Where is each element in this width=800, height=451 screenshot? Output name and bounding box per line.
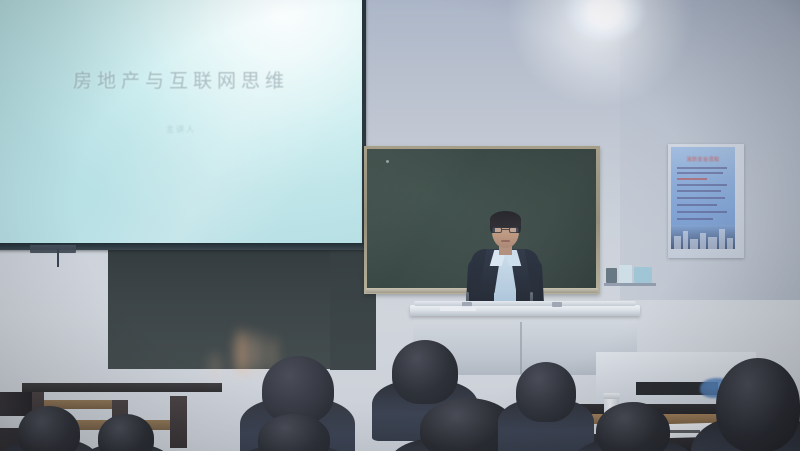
slide-subtitle: 主讲人	[0, 124, 362, 135]
glasses-lens-left	[492, 227, 502, 233]
poster-text-line	[677, 167, 727, 169]
audience-head-1	[18, 406, 80, 451]
poster-text-line	[677, 211, 727, 213]
shelf-item	[606, 268, 617, 283]
audience-head-7	[516, 362, 576, 422]
poster-text-line	[677, 190, 721, 192]
poster-text-line	[677, 218, 713, 220]
left-desk-rail	[22, 383, 222, 392]
screen-sheen	[0, 0, 362, 246]
lectern-seam	[520, 322, 522, 374]
glasses-bridge	[502, 229, 509, 230]
poster-text-line	[677, 204, 717, 206]
poster-text-line	[677, 184, 727, 186]
poster-cityscape-image	[671, 225, 735, 249]
poster-title: 消防安全须知	[671, 156, 735, 163]
poster-building	[690, 239, 698, 249]
glasses-lens-right	[509, 227, 519, 233]
lectern-clip-right	[552, 302, 562, 307]
presenter-mouth	[501, 240, 510, 242]
thermos-cap	[603, 393, 620, 399]
wall-poster-frame: 消防安全须知	[668, 144, 744, 258]
wall-shelf	[604, 262, 656, 286]
wall-poster: 消防安全须知	[671, 147, 735, 249]
glasses-icon	[492, 227, 519, 233]
rear-blackboard-panel	[108, 249, 368, 369]
projection-screen: 房地产与互联网思维 主讲人	[0, 0, 362, 246]
presenter-hair	[490, 211, 521, 228]
poster-building	[700, 233, 706, 249]
audience-head-5	[392, 340, 458, 404]
poster-building	[719, 229, 725, 249]
poster-text-line	[677, 197, 725, 199]
shelf-bracket	[604, 283, 656, 286]
lecture-hall-photo: 房地产与互联网思维 主讲人 消防安全须知	[0, 0, 800, 451]
lectern-notes	[440, 306, 476, 311]
screen-pull-handle[interactable]	[30, 245, 76, 253]
desk-panel	[170, 396, 187, 448]
screen-pull-cord[interactable]	[57, 249, 59, 267]
shelf-item	[634, 267, 652, 283]
poster-text-line	[677, 178, 707, 180]
poster-building	[708, 237, 717, 249]
poster-building	[674, 236, 681, 249]
slide-title: 房地产与互联网思维	[0, 66, 362, 93]
audience-head-8	[596, 402, 670, 451]
poster-building	[727, 238, 733, 249]
shelf-item	[619, 265, 632, 283]
poster-text-line	[677, 172, 723, 174]
audience-head-9	[716, 358, 800, 451]
chalk-mark	[386, 160, 389, 163]
poster-building	[683, 231, 688, 249]
